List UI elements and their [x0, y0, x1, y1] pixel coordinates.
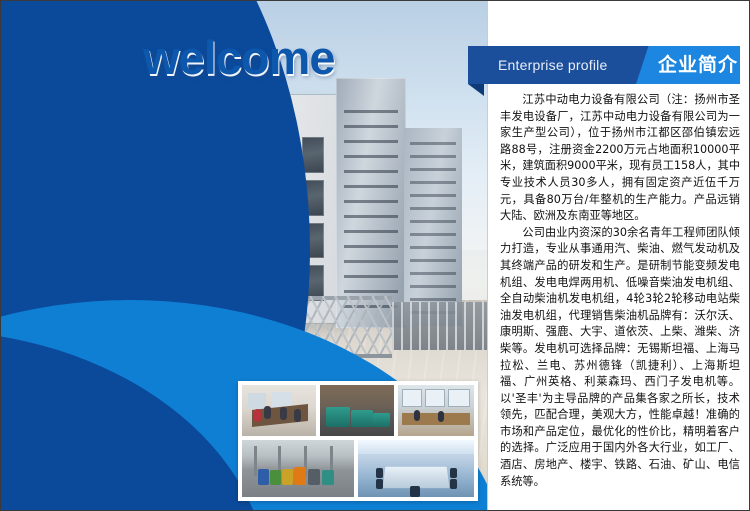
welcome-heading: welcome	[143, 34, 335, 81]
window-shape	[402, 389, 422, 407]
side-fence	[392, 302, 487, 350]
window-shape	[425, 389, 445, 407]
desk-shape	[402, 413, 470, 425]
chair-shape	[450, 468, 457, 478]
machine-shape	[308, 469, 320, 485]
machine-shape	[322, 470, 334, 485]
machine-shape	[294, 467, 306, 485]
ceiling-shape	[358, 440, 474, 454]
generator-shape	[351, 410, 373, 427]
window-shape	[448, 389, 470, 407]
tower-slab-right	[336, 78, 406, 328]
person-shape	[264, 406, 271, 419]
machine-shape	[258, 469, 269, 485]
photo-collage	[238, 381, 478, 501]
person-shape	[254, 409, 261, 422]
photo-conference-hall	[358, 440, 474, 497]
conference-table-shape	[383, 467, 450, 488]
ribbon-english-label: Enterprise profile	[498, 46, 607, 84]
profile-paragraph-2: 公司由业内资深的30余名青年工程师团队倾力打造，专业从事通用汽、柴油、燃气发动机…	[500, 225, 740, 491]
person-shape	[294, 409, 301, 422]
company-profile-page: 中动电力 江苏中动电力设备有限公司 Jiangsu Zhongdong Po	[0, 0, 750, 511]
person-shape	[280, 407, 287, 420]
person-shape	[414, 410, 420, 421]
enterprise-profile-ribbon: Enterprise profile 企业简介	[468, 46, 740, 84]
profile-paragraph-1: 江苏中动电力设备有限公司（注：扬州市圣丰发电设备厂，江苏中动电力设备有限公司为一…	[500, 92, 740, 225]
window-shape	[248, 393, 266, 409]
left-hero-panel: 中动电力 江苏中动电力设备有限公司 Jiangsu Zhongdong Po	[0, 0, 487, 511]
photo-green-generator-sets	[320, 385, 394, 436]
chair-shape	[376, 479, 383, 489]
machine-shape	[270, 470, 281, 485]
photo-meeting-room-staff	[242, 385, 316, 436]
company-profile-body: 江苏中动电力设备有限公司（注：扬州市圣丰发电设备厂，江苏中动电力设备有限公司为一…	[500, 92, 740, 490]
generator-shape	[326, 407, 350, 427]
photo-assembly-workshop	[242, 440, 354, 497]
tower-slab-far-right	[404, 128, 462, 326]
machine-shape	[282, 469, 293, 485]
chair-shape	[376, 468, 383, 478]
chair-shape	[450, 479, 457, 489]
generator-shape	[373, 413, 390, 427]
photo-open-plan-office	[398, 385, 474, 436]
profile-text-panel: Enterprise profile 企业简介 江苏中动电力设备有限公司（注：扬…	[487, 0, 750, 511]
window	[302, 137, 325, 173]
pillar-shape	[254, 446, 257, 476]
person-shape	[438, 411, 444, 422]
chair-shape	[410, 486, 420, 497]
ribbon-chinese-label: 企业简介	[658, 46, 738, 84]
